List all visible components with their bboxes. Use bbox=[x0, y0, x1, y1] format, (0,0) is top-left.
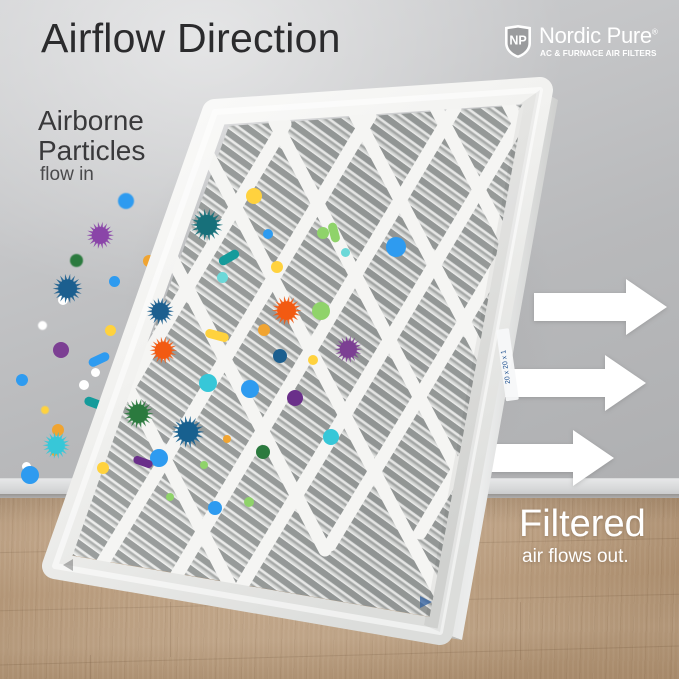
airborne-particles-label: Airborne Particles bbox=[38, 106, 145, 166]
shield-icon: NP bbox=[503, 24, 533, 59]
particle-dot bbox=[287, 390, 303, 406]
particle-dot bbox=[223, 435, 231, 443]
particle-dot bbox=[341, 248, 350, 257]
particle-dot bbox=[246, 188, 262, 204]
airborne-line-1: Airborne bbox=[38, 106, 145, 136]
particle-dot bbox=[263, 229, 273, 239]
particle-dot bbox=[244, 497, 254, 507]
product-infographic: 20 x 20 x 1 Airflow Direction Airborne P… bbox=[0, 0, 679, 679]
particle-microbe-icon bbox=[171, 415, 205, 449]
particle-microbe-icon bbox=[146, 297, 175, 326]
particle-microbe-icon bbox=[123, 398, 154, 429]
particle-dot bbox=[199, 374, 217, 392]
particle-microbe-icon bbox=[271, 295, 302, 326]
particle-dot bbox=[97, 462, 109, 474]
particle-dot bbox=[200, 461, 208, 469]
particle-microbe-icon bbox=[149, 336, 178, 365]
registered-mark: ® bbox=[652, 28, 658, 37]
particle-dot bbox=[386, 237, 406, 257]
brand-name-wrap: Nordic Pure® bbox=[539, 23, 657, 49]
particle-dot bbox=[308, 355, 318, 365]
trapped-particle-cloud bbox=[0, 0, 679, 679]
particle-dot bbox=[256, 445, 270, 459]
particle-microbe-icon bbox=[190, 208, 224, 242]
brand-logo: NP Nordic Pure® AC & FURNACE AIR FILTERS bbox=[503, 24, 663, 60]
flow-in-label: flow in bbox=[40, 164, 94, 186]
particle-dot bbox=[241, 380, 259, 398]
particle-dot bbox=[273, 349, 287, 363]
particle-rod bbox=[327, 222, 341, 244]
page-title: Airflow Direction bbox=[41, 16, 341, 61]
particle-dot bbox=[166, 493, 174, 501]
particle-dot bbox=[258, 324, 270, 336]
particle-rod bbox=[217, 248, 241, 267]
air-flows-out-label: air flows out. bbox=[522, 546, 629, 568]
particle-dot bbox=[323, 429, 339, 445]
particle-dot bbox=[271, 261, 283, 273]
particle-dot bbox=[317, 227, 329, 239]
particle-dot bbox=[217, 272, 228, 283]
particle-microbe-icon bbox=[334, 335, 363, 364]
brand-name: Nordic Pure bbox=[539, 23, 652, 48]
brand-tagline: AC & FURNACE AIR FILTERS bbox=[540, 49, 657, 58]
brand-monogram: NP bbox=[509, 34, 526, 48]
particle-dot bbox=[208, 501, 222, 515]
airborne-line-2: Particles bbox=[38, 136, 145, 166]
particle-dot bbox=[312, 302, 330, 320]
filtered-label: Filtered bbox=[519, 503, 646, 546]
particle-rod bbox=[204, 328, 230, 343]
